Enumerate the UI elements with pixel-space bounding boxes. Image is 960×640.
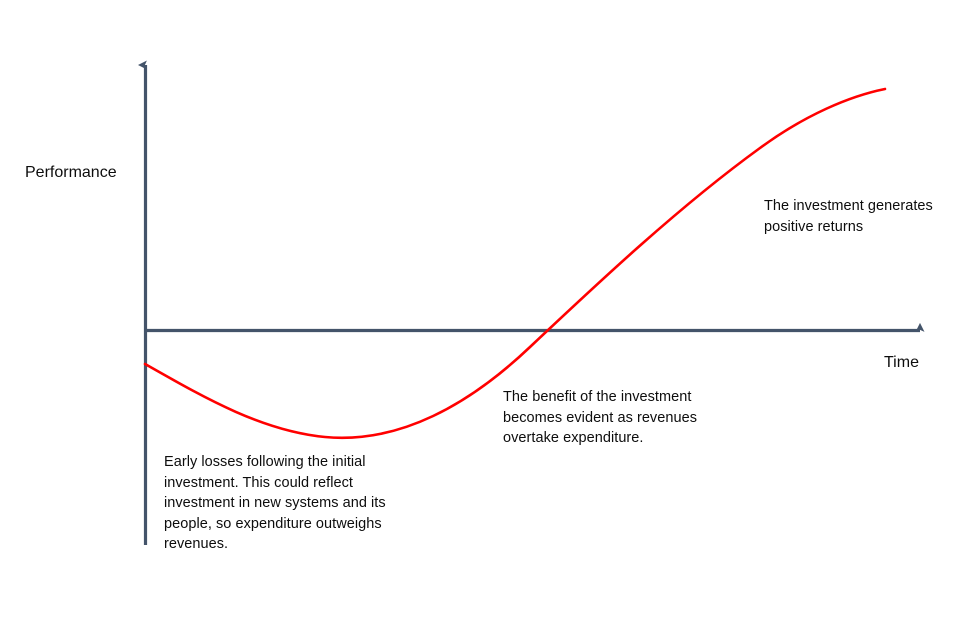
annotation-benefit-evident: The benefit of the investment becomes ev… bbox=[503, 387, 738, 449]
annotation-positive-returns: The investment generates positive return… bbox=[764, 196, 960, 237]
investment-j-curve-chart bbox=[0, 0, 960, 640]
x-axis-label: Time bbox=[884, 353, 919, 373]
data-series-group bbox=[145, 89, 885, 438]
y-axis-label: Performance bbox=[25, 163, 117, 183]
annotation-early-losses: Early losses following the initial inves… bbox=[164, 452, 394, 555]
j-curve-line bbox=[145, 89, 885, 438]
